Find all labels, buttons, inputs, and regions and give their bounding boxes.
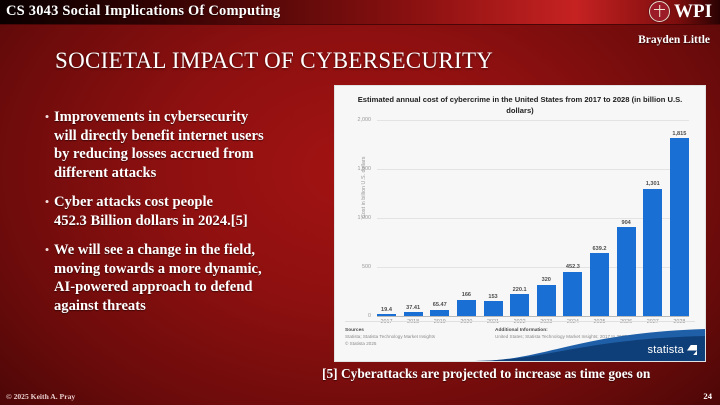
bar[interactable] (643, 189, 662, 316)
bar[interactable] (404, 312, 423, 316)
chart-x-axis-line (377, 316, 689, 317)
bar-column[interactable]: 153 (484, 120, 503, 316)
course-title: CS 3043 Social Implications Of Computing (6, 3, 280, 20)
bar-column[interactable]: 65.47 (430, 120, 449, 316)
bar-value-label: 153 (488, 294, 497, 300)
sources-line-1: Statista; Statista Technology Market Ins… (345, 334, 435, 339)
statista-brand: statista (648, 344, 697, 356)
bar-value-label: 320 (542, 277, 551, 283)
statista-wordmark: statista (648, 344, 684, 356)
bar-column[interactable]: 639.2 (590, 120, 609, 316)
bar-column[interactable]: 452.3 (563, 120, 582, 316)
statista-swoosh: statista (475, 327, 705, 361)
bar[interactable] (484, 301, 503, 316)
bullet-text: Improvements in cybersecurity will direc… (54, 108, 264, 182)
bar-column[interactable]: 1,815 (670, 120, 689, 316)
chart-title: Estimated annual cost of cybercrime in t… (353, 94, 687, 116)
bar-value-label: 904 (621, 220, 630, 226)
bar[interactable] (510, 294, 529, 316)
bar-column[interactable]: 37.41 (404, 120, 423, 316)
y-axis-tick-label: 0 (368, 313, 375, 319)
bar-column[interactable]: 19.4 (377, 120, 396, 316)
bar[interactable] (377, 314, 396, 316)
bullet-dot-icon: • (40, 193, 54, 230)
bar-column[interactable]: 166 (457, 120, 476, 316)
y-axis-tick-label: 1,500 (358, 166, 376, 172)
slide-caption: [5] Cyberattacks are projected to increa… (322, 366, 650, 382)
bullet-dot-icon: • (40, 108, 54, 182)
page-title: SOCIETAL IMPACT OF CYBERSECURITY (55, 48, 493, 74)
bullet-text: Cyber attacks cost people 452.3 Billion … (54, 193, 248, 230)
wpi-logo-text: WPI (674, 2, 712, 21)
wpi-logo: WPI (649, 1, 712, 22)
statista-logo-icon (687, 345, 697, 355)
author-name: Brayden Little (638, 34, 710, 46)
chart-plot-area: 05001,0001,5002,000 19.437.4165.47166153… (377, 120, 689, 317)
bar-value-label: 220.1 (513, 287, 527, 293)
bar-column[interactable]: 1,301 (643, 120, 662, 316)
list-item: • We will see a change in the field, mov… (40, 241, 332, 315)
bar[interactable] (537, 285, 556, 316)
footer-divider (345, 321, 695, 322)
list-item: • Cyber attacks cost people 452.3 Billio… (40, 193, 332, 230)
copyright-notice: © 2025 Keith A. Pray (6, 392, 75, 401)
bar[interactable] (430, 310, 449, 316)
chart-bars: 19.437.4165.47166153220.1320452.3639.290… (377, 120, 689, 316)
bar[interactable] (563, 272, 582, 316)
y-axis-tick-label: 1,000 (358, 215, 376, 221)
chart-sources: Sources Statista; Statista Technology Ma… (345, 327, 495, 347)
bar-column[interactable]: 904 (617, 120, 636, 316)
y-axis-tick-label: 500 (362, 264, 375, 270)
header-banner: CS 3043 Social Implications Of Computing… (0, 0, 720, 25)
bar-value-label: 37.41 (406, 305, 420, 311)
bar[interactable] (590, 253, 609, 316)
slide: CS 3043 Social Implications Of Computing… (0, 0, 720, 405)
chart-footer: Sources Statista; Statista Technology Ma… (335, 321, 705, 361)
bullet-list: • Improvements in cybersecurity will dir… (40, 108, 332, 326)
sources-line-2: © Statista 2025 (345, 341, 376, 346)
chart-panel: Estimated annual cost of cybercrime in t… (335, 86, 705, 361)
bar-column[interactable]: 320 (537, 120, 556, 316)
bar-value-label: 1,301 (646, 181, 660, 187)
bullet-dot-icon: • (40, 241, 54, 315)
bar-column[interactable]: 220.1 (510, 120, 529, 316)
bar-value-label: 166 (462, 292, 471, 298)
wpi-seal-icon (649, 1, 670, 22)
bar-value-label: 19.4 (381, 307, 392, 313)
bullet-text: We will see a change in the field, movin… (54, 241, 262, 315)
bar-value-label: 639.2 (593, 246, 607, 252)
bar[interactable] (617, 227, 636, 316)
y-axis-tick-label: 2,000 (358, 117, 376, 123)
bar[interactable] (670, 138, 689, 316)
bar-value-label: 65.47 (433, 302, 447, 308)
slide-number: 24 (703, 391, 712, 401)
bar[interactable] (457, 300, 476, 316)
bar-value-label: 1,815 (672, 131, 686, 137)
list-item: • Improvements in cybersecurity will dir… (40, 108, 332, 182)
sources-heading: Sources (345, 328, 364, 333)
bar-value-label: 452.3 (566, 264, 580, 270)
